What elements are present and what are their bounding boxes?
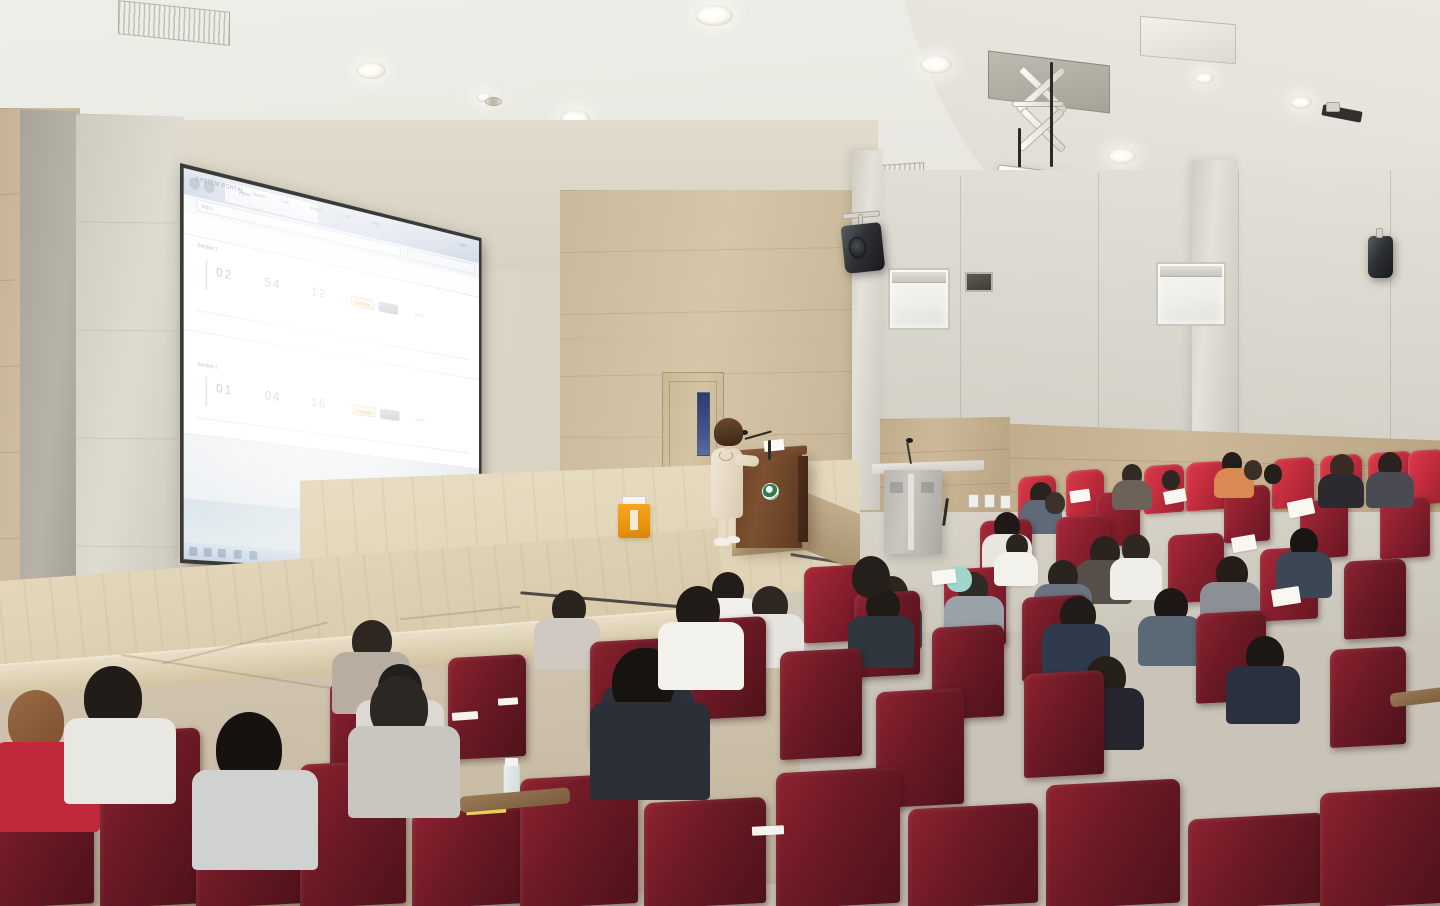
- projector-lift-arm: [1012, 101, 1064, 107]
- av-console-panel[interactable]: [890, 482, 903, 493]
- attendee-body: [1110, 558, 1162, 600]
- pa-speaker: [1368, 236, 1393, 278]
- av-console-stripe: [908, 474, 914, 550]
- card-value: 54: [265, 274, 281, 292]
- attendee-body: [590, 702, 710, 800]
- attendee-body: [64, 718, 176, 804]
- note-paper: [931, 569, 957, 586]
- presenter-notes: [763, 439, 784, 452]
- center-wall-wood-panel: [560, 338, 880, 341]
- attendee-body: [1112, 480, 1152, 510]
- institution-emblem: [762, 483, 779, 500]
- auditorium-seat[interactable]: [1046, 778, 1180, 906]
- presenter-hair: [714, 418, 743, 446]
- podium: [736, 452, 802, 548]
- card-secondary-button[interactable]: [379, 301, 398, 315]
- wall-control-box[interactable]: [965, 272, 993, 292]
- auditorium-seat[interactable]: [780, 648, 862, 760]
- card-divider: [196, 417, 469, 453]
- taskbar-app-icon[interactable]: [204, 548, 212, 557]
- auditorium-scene: Home http:// SYSTEM PORTAL Home List Sea…: [0, 0, 1440, 906]
- auditorium-seat[interactable]: [644, 797, 766, 906]
- card-primary-button[interactable]: [353, 404, 376, 417]
- auditorium-seat[interactable]: [1024, 670, 1104, 778]
- attendee-body: [348, 726, 460, 818]
- projector-cable: [1050, 62, 1053, 167]
- taskbar-app-icon[interactable]: [234, 550, 242, 559]
- sprinkler-head: [485, 97, 502, 106]
- recessed-downlight: [1194, 72, 1214, 84]
- auditorium-seat[interactable]: [1188, 812, 1324, 906]
- attendee-body: [1318, 474, 1364, 508]
- auditorium-seat[interactable]: [412, 807, 528, 906]
- av-microphone-head: [906, 438, 913, 443]
- speaker-bracket: [1376, 228, 1383, 238]
- wall-seam: [1238, 170, 1239, 470]
- door-glass-panel: [697, 392, 710, 456]
- auditorium-seat[interactable]: [776, 767, 900, 906]
- attendee-head: [1045, 492, 1065, 514]
- power-outlet[interactable]: [968, 494, 979, 508]
- presenter-necklace: [719, 450, 733, 461]
- power-outlet[interactable]: [984, 494, 995, 508]
- taskbar-start-icon[interactable]: [189, 547, 197, 556]
- card-primary-button[interactable]: [351, 296, 374, 311]
- attendee-body: [1138, 616, 1202, 666]
- card-title: Section 2: [197, 362, 217, 371]
- seat-number-tag: [498, 697, 518, 705]
- av-console-panel[interactable]: [921, 482, 934, 493]
- attendee-body: [192, 770, 318, 870]
- ceiling-mount-plate: [1326, 102, 1340, 112]
- pa-speaker: [841, 222, 886, 274]
- attendee-head: [1162, 470, 1180, 490]
- card-accent-bar: [205, 377, 206, 407]
- card-meta: total 5: [416, 417, 425, 423]
- recessed-downlight: [1290, 96, 1312, 109]
- structural-column: [852, 150, 882, 510]
- speaker-cone: [848, 236, 867, 260]
- microphone-stem: [768, 440, 771, 460]
- attendee-body: [1366, 472, 1414, 508]
- card-meta: total 3: [414, 312, 423, 318]
- bottle-cap: [505, 758, 518, 766]
- recessed-downlight: [356, 62, 386, 79]
- frosted-window: [1156, 262, 1226, 326]
- attendee-head: [1244, 460, 1262, 480]
- attendee-head: [1264, 464, 1282, 484]
- frosted-window: [888, 268, 950, 330]
- card-value: 01: [216, 380, 233, 397]
- card-title: Section 1: [197, 243, 217, 253]
- recessed-downlight: [920, 55, 952, 74]
- presenter-shoe: [727, 536, 740, 543]
- attendee-body: [658, 622, 744, 690]
- attendee-body: [1226, 666, 1300, 724]
- card-value: 16: [311, 395, 327, 411]
- card-accent-bar: [205, 260, 206, 290]
- hvac-vent: [1140, 16, 1236, 64]
- card-value: 12: [311, 284, 327, 301]
- attendee-head: [852, 556, 890, 598]
- taskbar-app-icon[interactable]: [218, 549, 226, 558]
- window-blind: [892, 272, 946, 283]
- recessed-downlight: [695, 5, 733, 26]
- recessed-downlight: [1108, 148, 1136, 164]
- auditorium-seat[interactable]: [1320, 787, 1440, 906]
- auditorium-seat[interactable]: [908, 803, 1038, 906]
- window-blind: [1160, 266, 1222, 277]
- seat-number-tag: [752, 825, 784, 836]
- card-secondary-button[interactable]: [380, 408, 399, 421]
- podium-side: [798, 456, 808, 542]
- auditorium-seat[interactable]: [1344, 558, 1406, 639]
- card-value: 04: [265, 388, 281, 405]
- taskbar-app-icon[interactable]: [249, 551, 257, 560]
- card-header-meta: [467, 381, 468, 385]
- wall-seam: [1390, 170, 1391, 450]
- card-value: 02: [216, 264, 233, 282]
- bag-label: [630, 510, 638, 530]
- attendee-body: [994, 552, 1038, 586]
- power-outlet[interactable]: [1000, 495, 1011, 509]
